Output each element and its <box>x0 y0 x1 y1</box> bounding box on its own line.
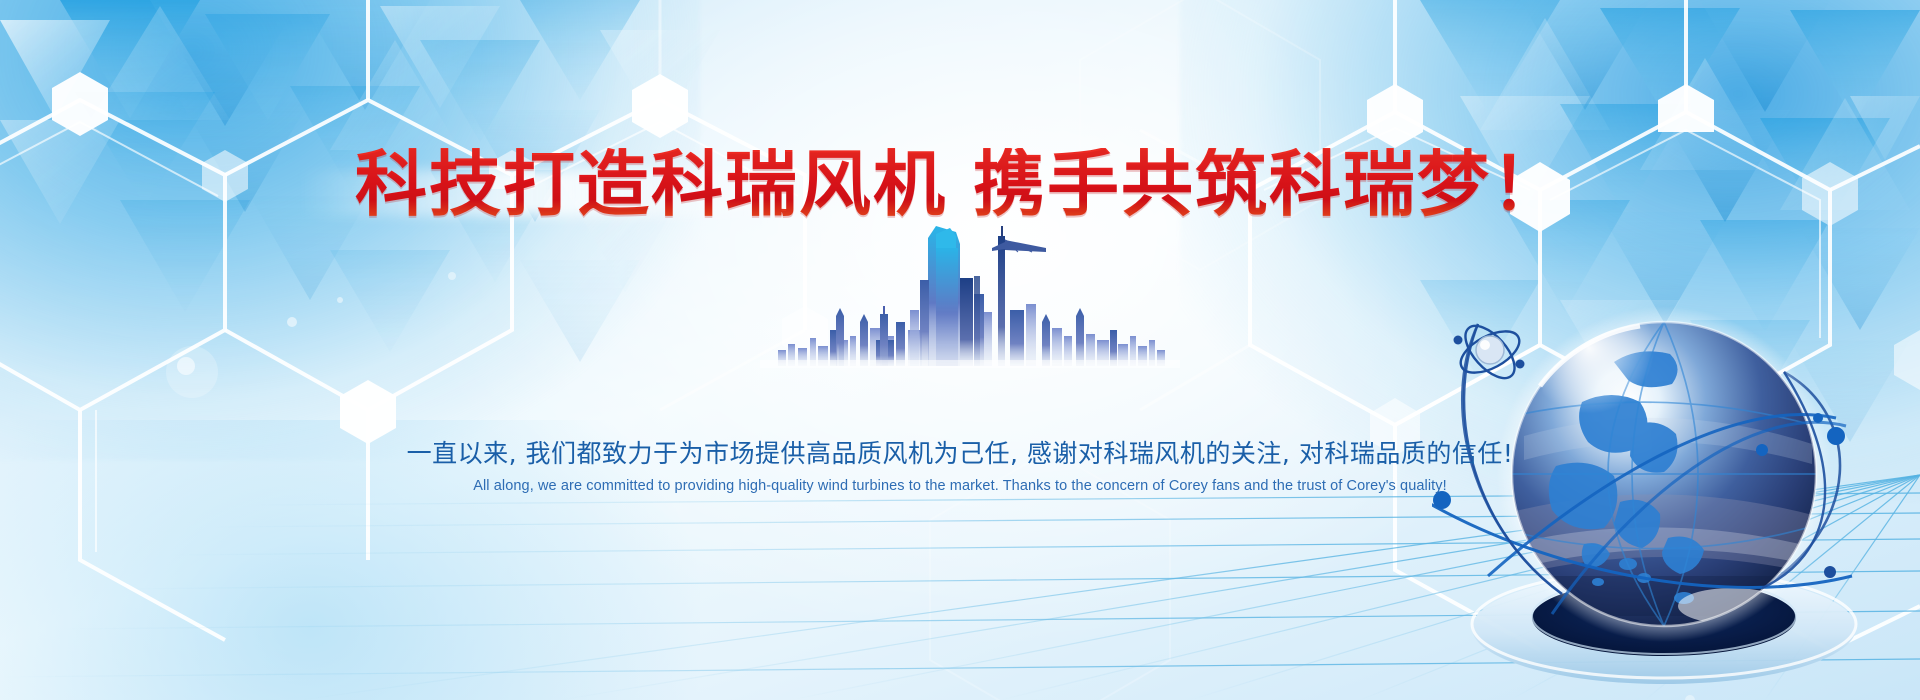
city-skyline <box>760 218 1180 368</box>
banner-headline: 科技打造科瑞风机携手共筑科瑞梦！ <box>0 148 1920 220</box>
banner-subtitle-en: All along, we are committed to providing… <box>0 478 1920 494</box>
banner-subtitle-cn: 一直以来, 我们都致力于为市场提供高品质风机为己任, 感谢对科瑞风机的关注, 对… <box>0 434 1920 470</box>
headline-part-1: 科技打造科瑞风机 <box>355 142 947 226</box>
banner-root: .hl{fill:none;stroke:#ffffff;stroke-widt… <box>0 0 1920 700</box>
headline-part-2: 携手共筑科瑞梦！ <box>973 142 1565 226</box>
